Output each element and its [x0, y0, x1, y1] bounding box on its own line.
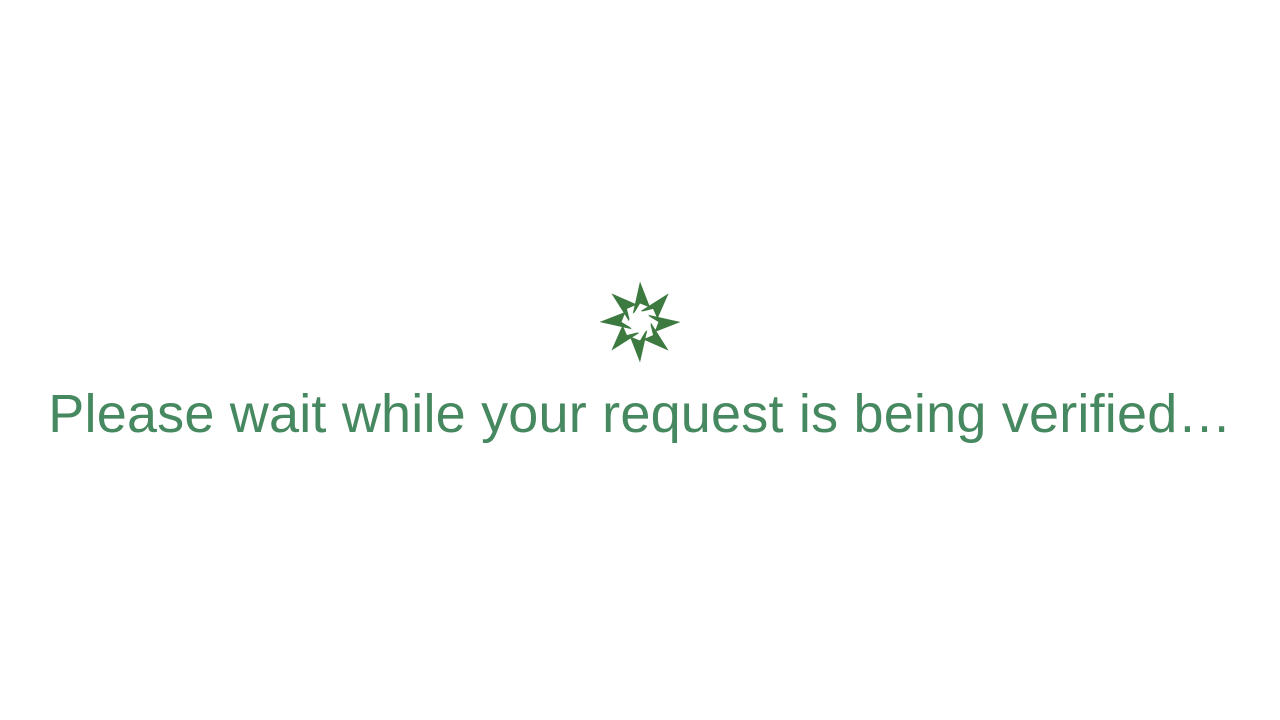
- verification-status-block: Please wait while your request is being …: [0, 0, 1280, 720]
- loading-spinner: [596, 278, 684, 366]
- verification-status-text: Please wait while your request is being …: [48, 386, 1231, 443]
- pinwheel-spinner-icon: [596, 278, 684, 366]
- verification-page: Please wait while your request is being …: [0, 0, 1280, 720]
